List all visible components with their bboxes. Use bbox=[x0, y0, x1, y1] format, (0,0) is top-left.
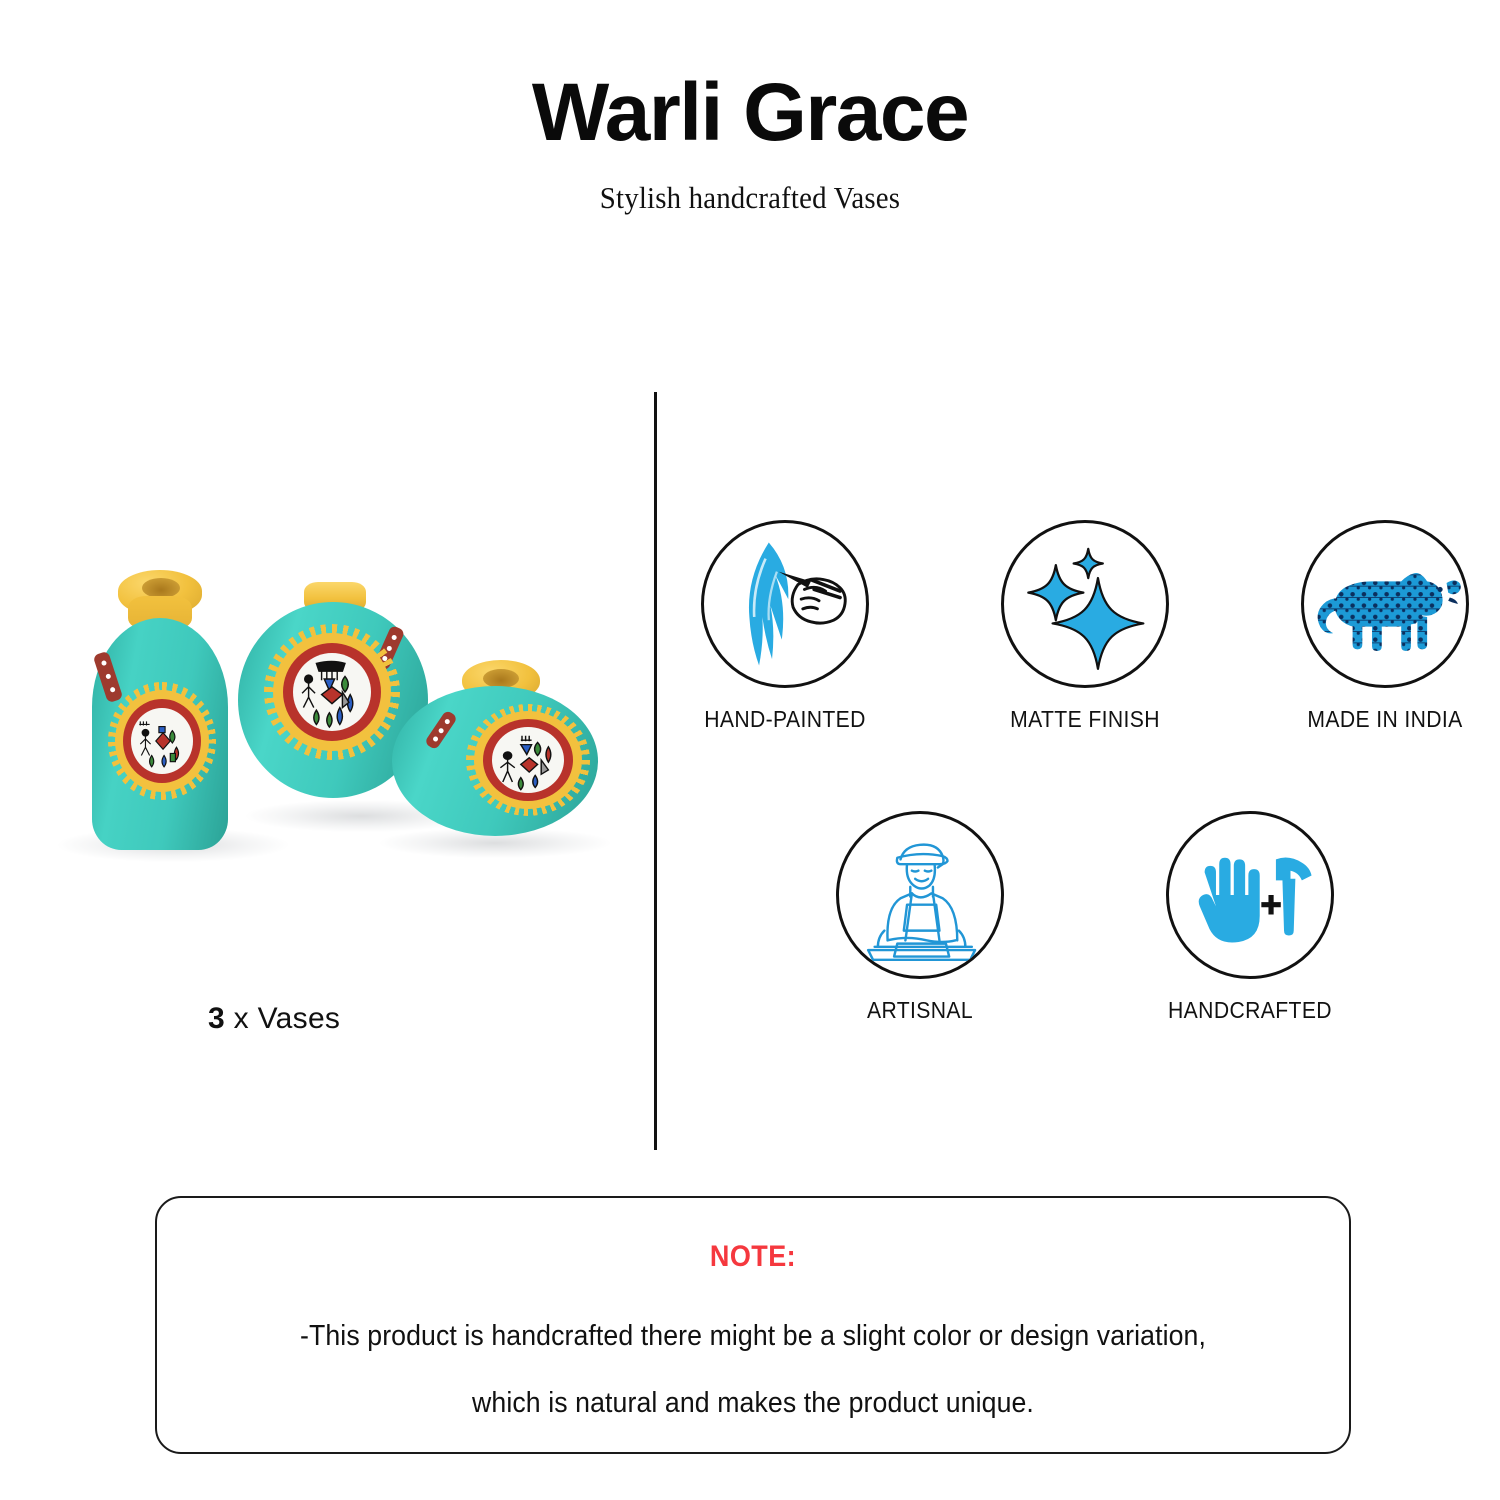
sparkle-icon bbox=[1001, 520, 1169, 688]
feature-label: MATTE FINISH bbox=[998, 706, 1173, 733]
vase-group bbox=[0, 560, 640, 890]
feature-made-in-india[interactable]: MADE IN INDIA bbox=[1290, 520, 1480, 733]
warli-art-disc bbox=[293, 653, 371, 731]
vase-tall bbox=[70, 570, 250, 850]
warli-art-disc bbox=[492, 727, 564, 793]
quantity-label: 3 x Vases bbox=[208, 1002, 340, 1036]
warli-figures bbox=[131, 708, 193, 774]
feature-artisnal[interactable]: ARTISNAL bbox=[825, 811, 1015, 1024]
feature-matte-finish[interactable]: MATTE FINISH bbox=[990, 520, 1180, 733]
warli-figures bbox=[293, 653, 371, 731]
feature-label: ARTISNAL bbox=[833, 997, 1008, 1024]
vase-medallion bbox=[264, 624, 400, 760]
note-line-2: which is natural and makes the product u… bbox=[205, 1387, 1302, 1420]
header: Warli Grace Stylish handcrafted Vases bbox=[0, 72, 1500, 216]
artisan-icon bbox=[836, 811, 1004, 979]
vase-medallion bbox=[466, 704, 590, 816]
lion-icon bbox=[1301, 520, 1469, 688]
features-row-2: ARTISNAL HANDCRAFTED bbox=[690, 811, 1480, 1024]
product-infographic: Warli Grace Stylish handcrafted Vases bbox=[0, 0, 1500, 1500]
note-box: NOTE: -This product is handcrafted there… bbox=[155, 1196, 1351, 1454]
vertical-divider bbox=[654, 392, 657, 1150]
warli-figures bbox=[492, 727, 564, 793]
vase-squat bbox=[390, 660, 600, 850]
feature-label: HANDCRAFTED bbox=[1163, 997, 1338, 1024]
features-panel: HAND-PAINTED MATTE FINISH bbox=[690, 520, 1480, 1024]
quantity-suffix: x Vases bbox=[225, 1002, 340, 1035]
feature-label: MADE IN INDIA bbox=[1298, 706, 1473, 733]
feature-handcrafted[interactable]: HANDCRAFTED bbox=[1155, 811, 1345, 1024]
hand-hammer-icon bbox=[1166, 811, 1334, 979]
product-image-area bbox=[0, 560, 640, 920]
page-title: Warli Grace bbox=[0, 72, 1500, 154]
note-line-1: -This product is handcrafted there might… bbox=[205, 1320, 1302, 1353]
feature-label: HAND-PAINTED bbox=[698, 706, 873, 733]
vase-medallion bbox=[108, 682, 216, 800]
page-subtitle: Stylish handcrafted Vases bbox=[53, 180, 1448, 216]
vase-mouth bbox=[142, 578, 180, 598]
feature-hand-painted[interactable]: HAND-PAINTED bbox=[690, 520, 880, 733]
features-row-1: HAND-PAINTED MATTE FINISH bbox=[690, 520, 1480, 733]
hand-painted-icon bbox=[701, 520, 869, 688]
warli-art-disc bbox=[131, 708, 193, 774]
note-title: NOTE: bbox=[217, 1240, 1290, 1274]
quantity-number: 3 bbox=[208, 1002, 225, 1035]
